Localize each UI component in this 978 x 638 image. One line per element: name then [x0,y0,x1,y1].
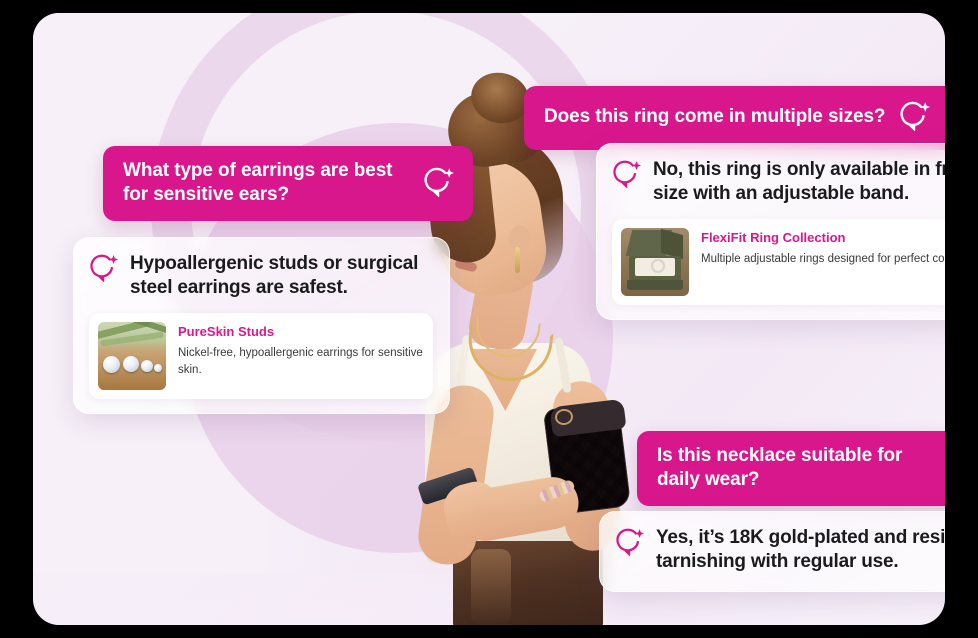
question-bubble-earrings[interactable]: What type of earrings are best for sensi… [103,146,473,221]
answer-card-necklace[interactable]: Yes, it’s 18K gold-plated and resists ta… [599,511,945,592]
product-description: Multiple adjustable rings designed for p… [701,251,945,269]
chat-sparkle-icon [89,252,119,287]
diamond-stud-earrings-photo [98,322,166,390]
answer-card-ring[interactable]: No, this ring is only available in free-… [596,143,945,320]
open-ring-box-photo [621,228,689,296]
chat-sparkle-icon [899,99,931,136]
chat-sparkle-icon [612,158,642,193]
product-card-flexifit-ring[interactable]: FlexiFit Ring Collection Multiple adjust… [612,219,945,305]
answer-text-earrings: Hypoallergenic studs or surgical steel e… [130,252,433,301]
gold-drop-earring [515,247,520,273]
answer-card-earrings[interactable]: Hypoallergenic studs or surgical steel e… [73,237,450,414]
model-skirt-highlight [471,549,511,625]
product-card-pureskin-studs[interactable]: PureSkin Studs Nickel-free, hypoallergen… [89,313,433,399]
answer-text-necklace: Yes, it’s 18K gold-plated and resists ta… [656,526,945,575]
question-bubble-necklace[interactable]: Is this necklace suitable for daily wear… [637,431,945,506]
chat-sparkle-icon [615,526,645,561]
chat-sparkle-icon [423,165,455,202]
question-text-necklace: Is this necklace suitable for daily wear… [657,444,945,492]
product-description: Nickel-free, hypoallergenic earrings for… [178,345,424,381]
product-title: FlexiFit Ring Collection [701,230,945,245]
answer-text-ring: No, this ring is only available in free-… [653,158,945,207]
screenshot-root: What type of earrings are best for sensi… [0,0,978,638]
question-text-earrings: What type of earrings are best for sensi… [123,159,409,207]
model-ear [509,225,531,253]
product-title: PureSkin Studs [178,324,424,339]
question-text-ring: Does this ring come in multiple sizes? [544,105,885,129]
question-bubble-ring[interactable]: Does this ring come in multiple sizes? [524,86,945,150]
hero-card: What type of earrings are best for sensi… [33,13,945,625]
